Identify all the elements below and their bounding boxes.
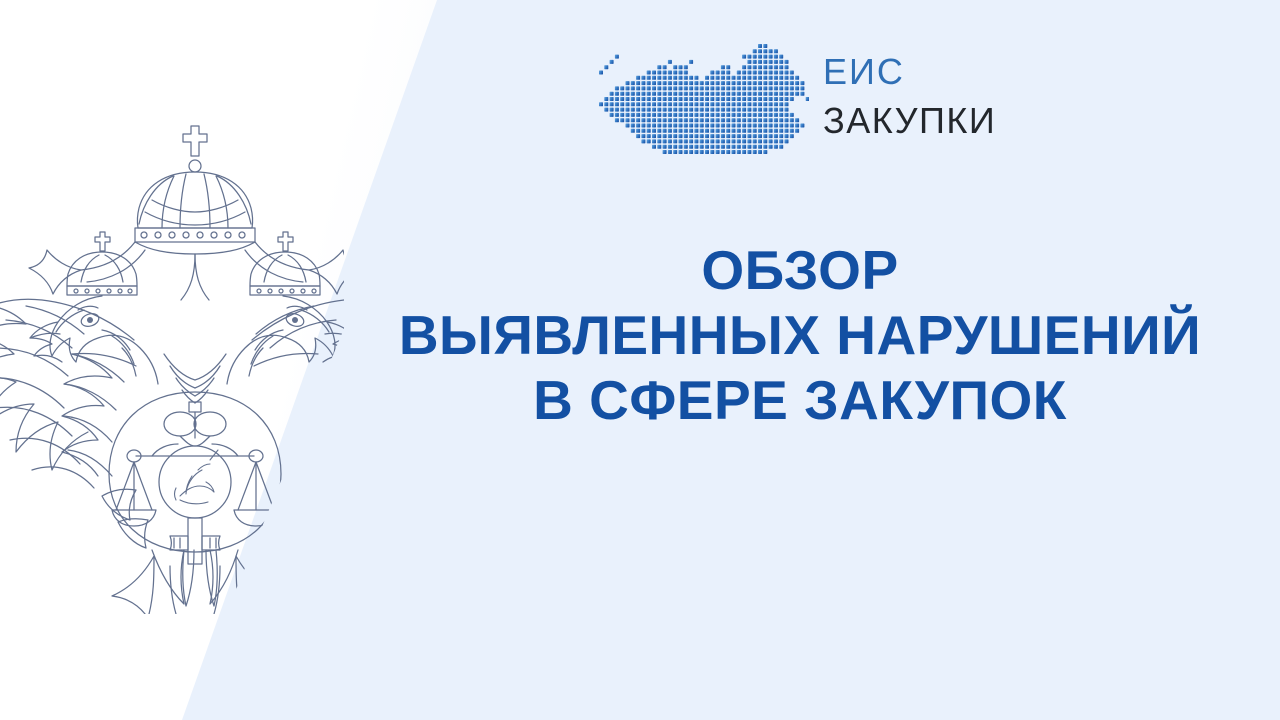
- right-eagle-head: [227, 296, 344, 384]
- russia-dotted-map-icon: [597, 42, 809, 154]
- logo-text-zakupki: ЗАКУПКИ: [823, 103, 996, 139]
- eis-zakupki-logo: ЕИС ЗАКУПКИ: [597, 42, 996, 154]
- page-title: ОБЗОР ВЫЯВЛЕННЫХ НАРУШЕНИЙ В СФЕРЕ ЗАКУП…: [340, 238, 1260, 433]
- scales-and-key-emblem: [109, 392, 281, 564]
- title-line-3: В СФЕРЕ ЗАКУПОК: [340, 368, 1260, 433]
- left-wing: [0, 299, 148, 548]
- coat-of-arms-emblem: [0, 104, 344, 614]
- left-eagle-head: [30, 296, 158, 384]
- eagle-breast: [164, 354, 226, 403]
- right-crown-icon: [250, 232, 320, 295]
- center-crown-icon: [135, 126, 255, 254]
- title-slide: ЕИС ЗАКУПКИ ОБЗОР ВЫЯВЛЕННЫХ НАРУШЕНИЙ В…: [0, 0, 1280, 720]
- logo-text-eis: ЕИС: [823, 54, 996, 90]
- left-crown-icon: [67, 232, 137, 295]
- title-line-2: ВЫЯВЛЕННЫХ НАРУШЕНИЙ: [340, 303, 1260, 368]
- st-george-figure: [175, 450, 219, 504]
- eagle-tail: [112, 550, 278, 614]
- title-line-1: ОБЗОР: [340, 238, 1260, 303]
